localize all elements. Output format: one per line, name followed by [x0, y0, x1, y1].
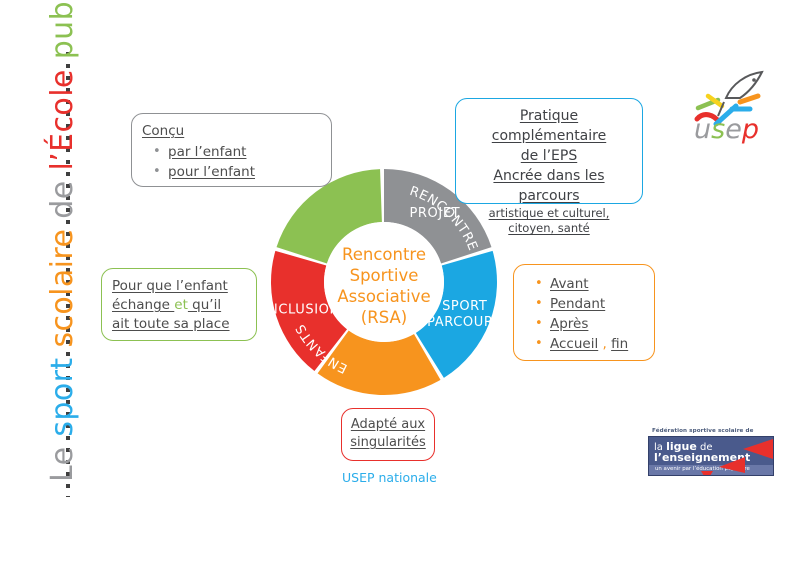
callout-inclusion-line1: Adapté aux: [346, 416, 430, 434]
donut-center-line-1: Sportive: [350, 266, 419, 285]
usep-wordmark: usep: [694, 114, 759, 144]
callout-enfants-line2c: qu’il: [188, 297, 221, 313]
callout-inclusion: Adapté aux singularités: [341, 408, 435, 461]
callout-projet: Conçu par l’enfant pour l’enfant: [131, 113, 332, 187]
callout-enfants-line2a: échange: [112, 297, 174, 313]
donut-center-line-3: (RSA): [361, 308, 407, 327]
list-item: pour l’enfant: [168, 163, 321, 182]
callout-rencontre-item-3b: fin: [611, 336, 628, 352]
donut-label-inclusion: INCLUSION: [264, 303, 340, 318]
callout-enfants-line2: échange et qu’il: [112, 296, 246, 315]
page-title-part-2: scolaire: [45, 219, 80, 348]
callout-rencontre-item-1: Pendant: [550, 296, 605, 312]
ligue-tagline-bar: un avenir par l’éducation populaire: [649, 465, 773, 475]
callout-projet-item-0: par l’enfant: [168, 144, 246, 160]
list-item: Accueil , fin: [550, 335, 644, 354]
callout-rencontre: Avant Pendant Après Accueil , fin: [513, 264, 655, 361]
logo-figure-eye: [752, 78, 756, 82]
ligue-federation-line: Fédération sportive scolaire de: [652, 428, 776, 434]
page-title-part-5: publique: [45, 0, 80, 59]
callout-enfants-line3: ait toute sa place: [112, 315, 246, 334]
callout-rencontre-item-3a: Accueil: [550, 336, 598, 352]
slide-canvas: Le sport scolaire de l’École publique Co…: [0, 0, 800, 565]
callout-projet-list: par l’enfant pour l’enfant: [142, 143, 321, 182]
donut-label-sport: SPORT: [442, 299, 487, 314]
list-item: par l’enfant: [168, 143, 321, 162]
usep-logo: usep: [688, 62, 786, 144]
callout-enfants: Pour que l’enfant échange et qu’il ait t…: [101, 268, 257, 341]
callout-sport-line4: artistique et culturel,: [464, 206, 634, 221]
donut-center-line-0: Rencontre: [342, 245, 426, 264]
callout-sport-line2: de l’EPS: [464, 146, 634, 166]
page-title-part-3: de: [45, 170, 80, 218]
list-item: Avant: [550, 275, 644, 294]
ligue-tagline: un avenir par l’éducation populaire: [655, 466, 750, 472]
page-title-part-4: l’École: [45, 59, 80, 170]
list-item: Pendant: [550, 295, 644, 314]
page-title-part-1: sport: [45, 348, 80, 437]
usep-nationale-caption: USEP nationale: [342, 470, 437, 485]
ligue-enseignement-logo: Fédération sportive scolaire de la ligue…: [648, 428, 776, 482]
callout-sport-line5: citoyen, santé: [464, 221, 634, 236]
callout-enfants-highlight: et: [174, 297, 188, 313]
page-title: Le sport scolaire de l’École publique: [40, 32, 86, 482]
donut-label-sport: PARCOURS: [427, 315, 502, 330]
callout-rencontre-list: Avant Pendant Après Accueil , fin: [524, 275, 644, 354]
ligue-plate: la ligue de l’enseignement un avenir par…: [648, 436, 774, 476]
callout-sport-line3: Ancrée dans les parcours: [464, 166, 634, 206]
callout-projet-item-1: pour l’enfant: [168, 164, 255, 180]
page-title-part-0: Le: [45, 437, 80, 482]
callout-rencontre-item-0: Avant: [550, 276, 589, 292]
callout-sport-parcours: Pratique complémentaire de l’EPS Ancrée …: [455, 98, 643, 204]
callout-sport-line1: Pratique complémentaire: [464, 106, 634, 146]
callout-rencontre-item-2: Après: [550, 316, 588, 332]
callout-rencontre-separator: ,: [598, 336, 611, 352]
callout-inclusion-line2: singularités: [346, 434, 430, 452]
list-item: Après: [550, 315, 644, 334]
ligue-name-line2: l’enseignement: [654, 451, 750, 464]
donut-center-line-2: Associative: [337, 287, 430, 306]
callout-projet-title: Conçu: [142, 123, 184, 139]
callout-enfants-line1: Pour que l’enfant: [112, 277, 246, 296]
